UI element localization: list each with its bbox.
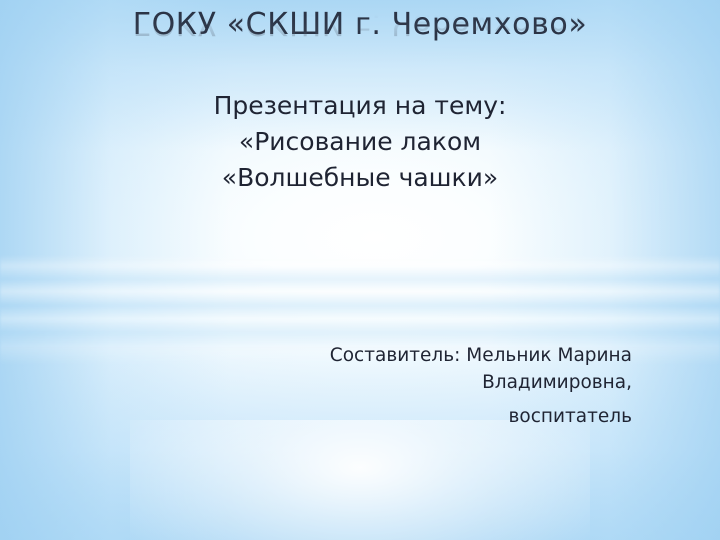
body-line: Презентация на тему: xyxy=(60,88,660,124)
slide-title: ГОКУ «СКШИ г. Черемхово» xyxy=(133,8,588,42)
author-name-line: Составитель: Мельник Марина Владимировна… xyxy=(280,342,632,396)
body-line: «Рисование лаком xyxy=(60,124,660,160)
slide-body-block: Презентация на тему: «Рисование лаком «В… xyxy=(60,88,660,196)
slide-author-block: Составитель: Мельник Марина Владимировна… xyxy=(280,342,632,430)
body-line: «Волшебные чашки» xyxy=(60,160,660,196)
presentation-slide: ГОКУ «СКШИ г. Черемхово» ГОКУ «СКШИ г. Ч… xyxy=(0,0,720,540)
author-role-line: воспитатель xyxy=(280,403,632,430)
slide-title-block: ГОКУ «СКШИ г. Черемхово» ГОКУ «СКШИ г. Ч… xyxy=(0,8,720,68)
